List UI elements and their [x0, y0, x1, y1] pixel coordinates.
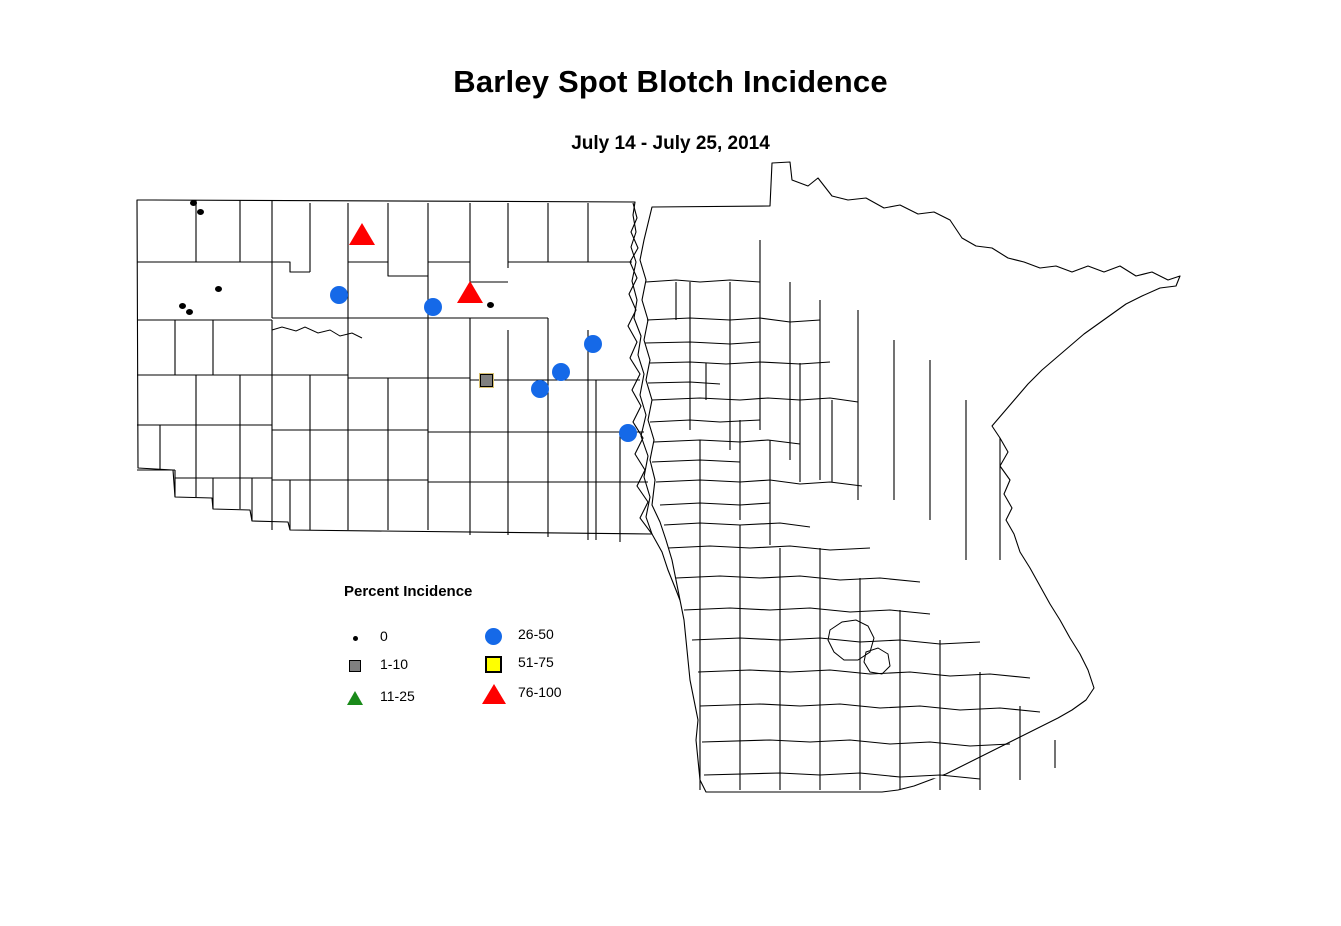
legend-blue-circle-icon	[482, 625, 508, 647]
legend-label: 26-50	[518, 626, 554, 642]
legend-label: 76-100	[518, 684, 562, 700]
legend-label: 11-25	[380, 688, 415, 704]
data-point-0	[487, 302, 494, 308]
data-point-76-100	[457, 281, 483, 303]
data-point-0	[190, 200, 197, 206]
legend: Percent Incidence 0 1-10 11-25 26-50 51-…	[330, 583, 610, 713]
map-canvas	[0, 0, 1341, 926]
map-page: Barley Spot Blotch Incidence July 14 - J…	[0, 0, 1341, 926]
legend-red-triangle-icon	[482, 683, 508, 705]
minnesota-counties	[640, 162, 1180, 792]
data-point-26-50	[330, 286, 348, 304]
data-point-26-50	[584, 335, 602, 353]
legend-label: 1-10	[380, 656, 408, 672]
data-point-26-50	[619, 424, 637, 442]
data-point-0	[197, 209, 204, 215]
data-point-0	[215, 286, 222, 292]
data-point-26-50	[552, 363, 570, 381]
legend-title: Percent Incidence	[344, 583, 472, 600]
legend-yellow-square-icon	[482, 653, 508, 675]
data-point-76-100	[349, 223, 375, 245]
legend-small-dot-icon	[344, 627, 370, 649]
legend-label: 51-75	[518, 654, 554, 670]
legend-green-triangle-icon	[344, 687, 370, 709]
legend-label: 0	[380, 628, 388, 644]
legend-gray-square-icon	[344, 655, 370, 677]
data-point-26-50	[531, 380, 549, 398]
north-dakota-counties	[137, 200, 652, 542]
data-point-26-50	[424, 298, 442, 316]
data-point-0	[179, 303, 186, 309]
data-point-0	[186, 309, 193, 315]
data-point-1-10	[480, 374, 493, 387]
